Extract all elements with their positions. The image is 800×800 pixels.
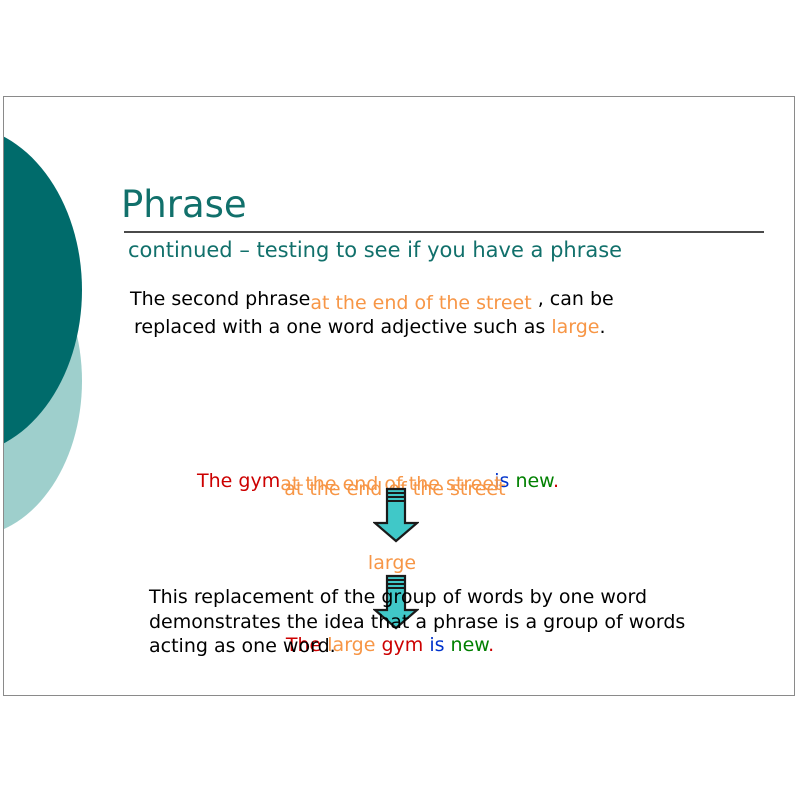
intro-text-part-3: replaced with a one word adjective such …	[134, 316, 551, 338]
intro-text-part-2: , can be	[532, 288, 614, 310]
title-divider	[124, 231, 764, 233]
closing-paragraph: This replacement of the group of words b…	[149, 585, 749, 659]
slide-page: { "slide": { "title": "Phrase", "subtitl…	[0, 0, 800, 800]
sentence-word-new: new	[515, 470, 553, 492]
title-block: Phrase continued – testing to see if you…	[121, 183, 766, 264]
replacement-word: large	[3, 552, 788, 574]
closing-line-1: This replacement of the group of words b…	[149, 585, 749, 610]
slide-canvas: Phrase continued – testing to see if you…	[3, 96, 795, 696]
closing-line-2: demonstrates the idea that a phrase is a…	[149, 610, 749, 635]
down-arrow-icon	[373, 487, 419, 543]
intro-paragraph: The second phraseat the end of the stree…	[130, 287, 730, 339]
intro-text-part-1: The second phrase	[130, 288, 310, 310]
sentence-period: .	[553, 470, 559, 492]
closing-line-3: acting as one word.	[149, 634, 749, 659]
sentence-word-the: The	[197, 470, 238, 492]
page-subtitle: continued – testing to see if you have a…	[128, 236, 766, 264]
intro-text-part-4: .	[600, 316, 606, 338]
intro-highlight-phrase: at the end of the street	[310, 291, 531, 315]
intro-highlight-word: large	[551, 316, 599, 338]
page-title: Phrase	[121, 183, 766, 227]
sentence-word-gym: gym	[238, 470, 280, 492]
